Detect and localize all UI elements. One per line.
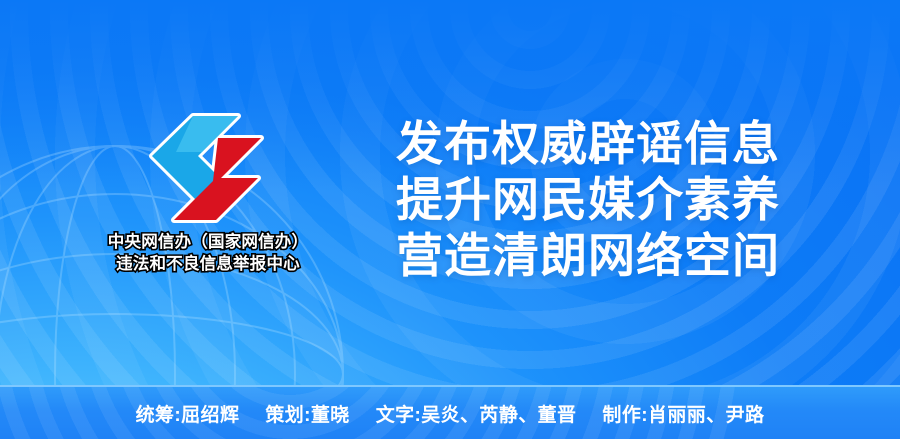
credit-item: 策划:董晓 xyxy=(265,400,349,427)
headline-line-1: 发布权威辟谣信息 xyxy=(396,116,780,172)
headline: 发布权威辟谣信息 提升网民媒介素养 营造清朗网络空间 xyxy=(396,116,780,284)
credit-item: 统筹:屈绍辉 xyxy=(136,400,240,427)
credits-bar: 统筹:屈绍辉策划:董晓文字:吴炎、芮静、董晋制作:肖丽丽、尹路 xyxy=(0,385,900,439)
logo-block: 中央网信办（国家网信办） 违法和不良信息举报中心 xyxy=(78,112,338,276)
logo-caption-line1: 中央网信办（国家网信办） xyxy=(78,232,338,254)
logo-caption-line2: 违法和不良信息举报中心 xyxy=(78,254,338,276)
headline-line-2: 提升网民媒介素养 xyxy=(396,172,780,228)
banner-poster: 中央网信办（国家网信办） 违法和不良信息举报中心 发布权威辟谣信息 提升网民媒介… xyxy=(0,0,900,439)
credit-item: 文字:吴炎、芮静、董晋 xyxy=(376,400,577,427)
headline-line-3: 营造清朗网络空间 xyxy=(396,228,780,284)
credit-item: 制作:肖丽丽、尹路 xyxy=(602,400,764,427)
cngov-report-center-logo-icon xyxy=(146,112,271,224)
logo-caption: 中央网信办（国家网信办） 违法和不良信息举报中心 xyxy=(78,232,338,276)
credits-list: 统筹:屈绍辉策划:董晓文字:吴炎、芮静、董晋制作:肖丽丽、尹路 xyxy=(136,400,765,427)
